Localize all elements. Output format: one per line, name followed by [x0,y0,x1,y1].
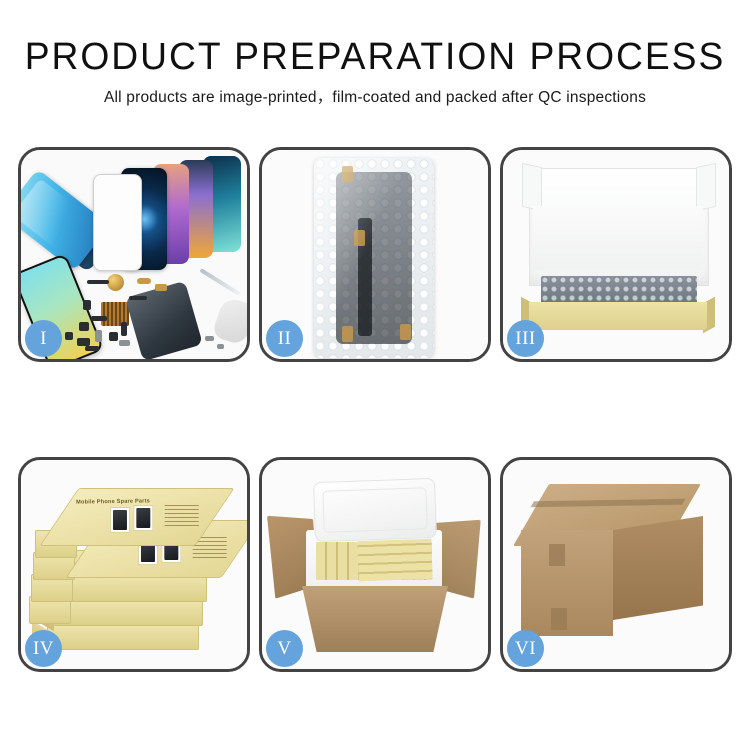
step-badge-3: III [507,320,544,357]
phone-back-housing-icon [125,281,203,362]
spare-part [137,278,151,284]
spare-part [95,330,102,342]
foam-box-lid-icon [313,478,437,542]
spare-part [91,316,107,321]
carton-front-wall [302,586,448,652]
step-badge-6: VI [507,630,544,667]
spare-part [65,332,73,340]
tweezers-icon [199,268,240,296]
step-badge-5: V [266,630,303,667]
carton-right-face [613,516,703,620]
screen-inside-bag [336,172,412,344]
page-subtitle: All products are image-printed，film-coat… [0,90,750,106]
spare-part [87,280,109,284]
spare-part [77,338,90,346]
spare-part [121,322,127,336]
spare-part [205,336,214,341]
spare-part [129,296,147,300]
process-step-grid: I II III [18,147,732,672]
process-step-5[interactable]: V [259,457,491,672]
step-badge-4: IV [25,630,62,667]
tape-piece [342,166,353,182]
process-step-2[interactable]: II [259,147,491,362]
kraft-box-front-icon [529,302,707,330]
spare-part [119,340,130,346]
process-step-1[interactable]: I [18,147,250,362]
spare-part [109,332,118,341]
spare-part [83,300,91,310]
hand-icon [211,296,250,346]
bubble-wrapped-contents-icon [541,276,697,304]
spare-part [155,284,167,291]
spare-part [79,322,89,331]
spare-part [85,346,99,351]
tape-piece [342,326,353,342]
bubble-wrap-bag-icon [314,158,434,358]
tape-piece [354,230,365,246]
carton-front-face [521,530,613,636]
spare-part [217,344,224,349]
page-header: PRODUCT PREPARATION PROCESS All products… [0,0,750,106]
gold-component-icon [107,274,124,291]
process-step-3[interactable]: III [500,147,732,362]
page-title: PRODUCT PREPARATION PROCESS [8,38,743,76]
step-badge-2: II [266,320,303,357]
process-step-6[interactable]: VI [500,457,732,672]
screen-protector-icon [93,174,142,271]
carton-tape [551,608,567,630]
carton-tape [549,544,565,566]
tape-piece [400,324,411,340]
step-badge-1: I [25,320,62,357]
process-step-4[interactable]: Mobile Phone Spare Parts Mobile Phone Sp… [18,457,250,672]
foam-sheet-icon [533,206,703,270]
inner-boxes-icon [357,539,432,582]
